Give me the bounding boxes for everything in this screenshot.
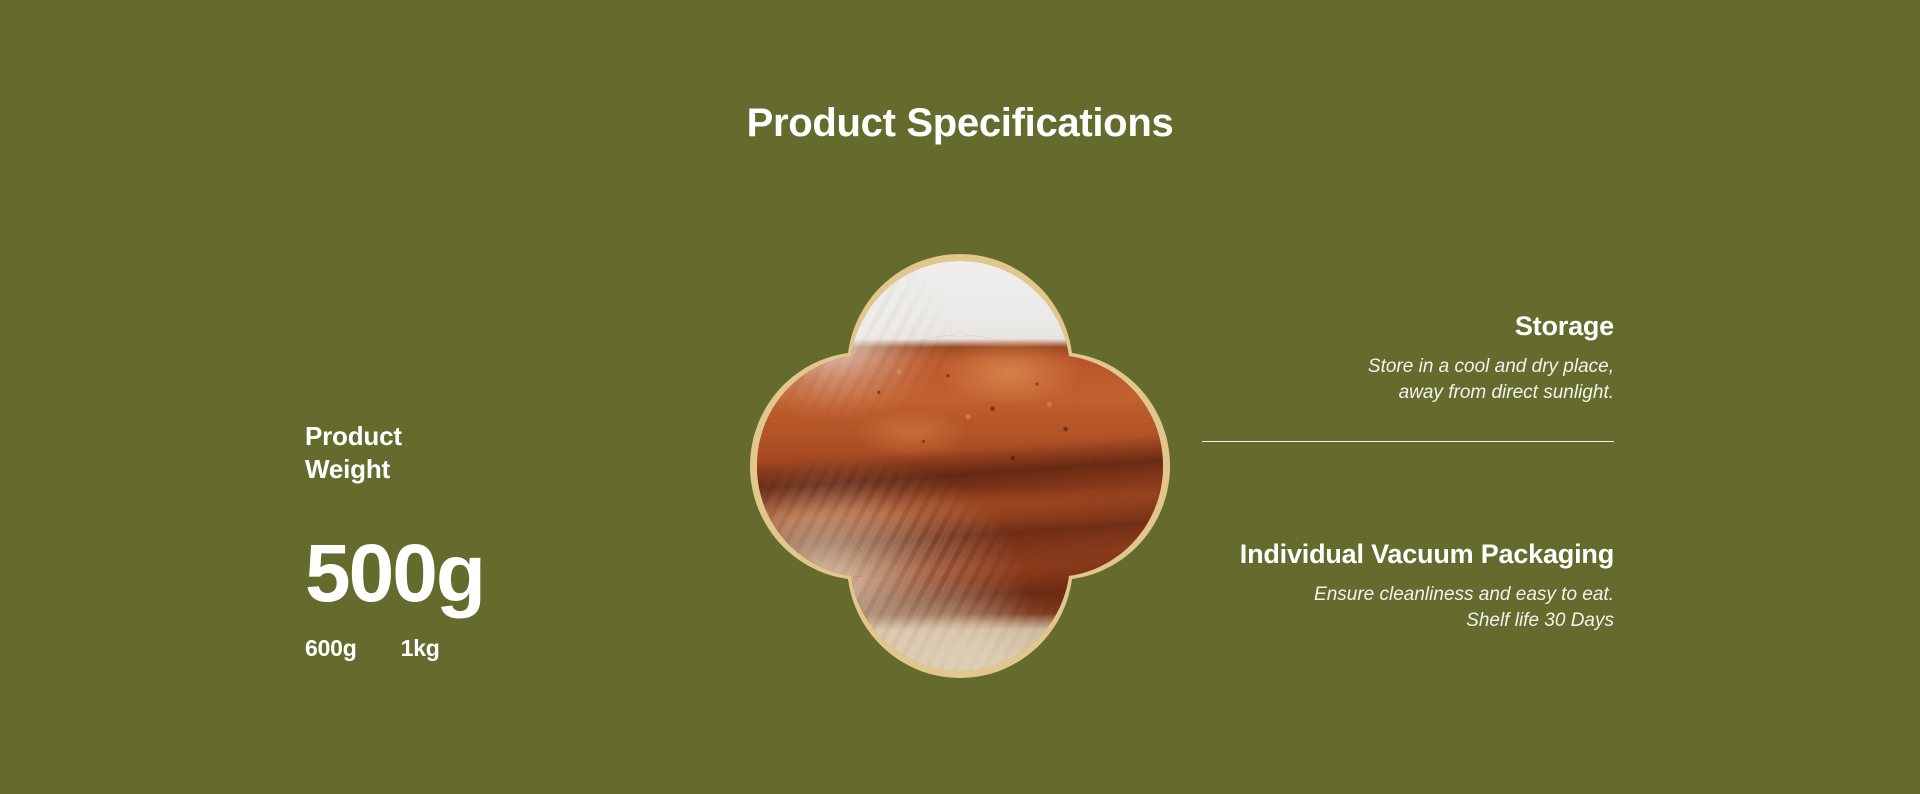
product-weight-label-line-2: Weight — [305, 454, 390, 484]
packaging-heading: Individual Vacuum Packaging — [1054, 538, 1614, 570]
packaging-body-line-2: Shelf life 30 Days — [1054, 608, 1614, 633]
storage-body: Store in a cool and dry place, away from… — [1054, 354, 1614, 405]
storage-body-line-2: away from direct sunlight. — [1054, 380, 1614, 405]
packaging-block: Individual Vacuum Packaging Ensure clean… — [1054, 538, 1614, 633]
product-weight-label: Product Weight — [305, 420, 475, 487]
product-specifications-slide: Product Specifications Product Weight 50… — [0, 0, 1920, 794]
product-weight-section: Product Weight 500g 600g 1kg — [305, 420, 725, 662]
product-weight-primary-value: 500g — [305, 533, 725, 615]
packaging-body: Ensure cleanliness and easy to eat. Shel… — [1054, 582, 1614, 633]
storage-body-line-1: Store in a cool and dry place, — [1054, 354, 1614, 379]
packaging-body-line-1: Ensure cleanliness and easy to eat. — [1054, 582, 1614, 607]
photo-mask-core — [830, 335, 1090, 597]
product-weight-options: 600g 1kg — [305, 635, 725, 662]
product-info-column: Storage Store in a cool and dry place, a… — [1054, 310, 1614, 633]
storage-heading: Storage — [1054, 310, 1614, 342]
section-divider — [1202, 441, 1614, 442]
weight-option-1kg[interactable]: 1kg — [401, 635, 440, 662]
storage-block: Storage Store in a cool and dry place, a… — [1054, 310, 1614, 405]
product-photo-art — [830, 335, 1090, 597]
weight-option-600g[interactable]: 600g — [305, 635, 357, 662]
page-title: Product Specifications — [0, 101, 1920, 145]
product-weight-label-line-1: Product — [305, 421, 402, 451]
